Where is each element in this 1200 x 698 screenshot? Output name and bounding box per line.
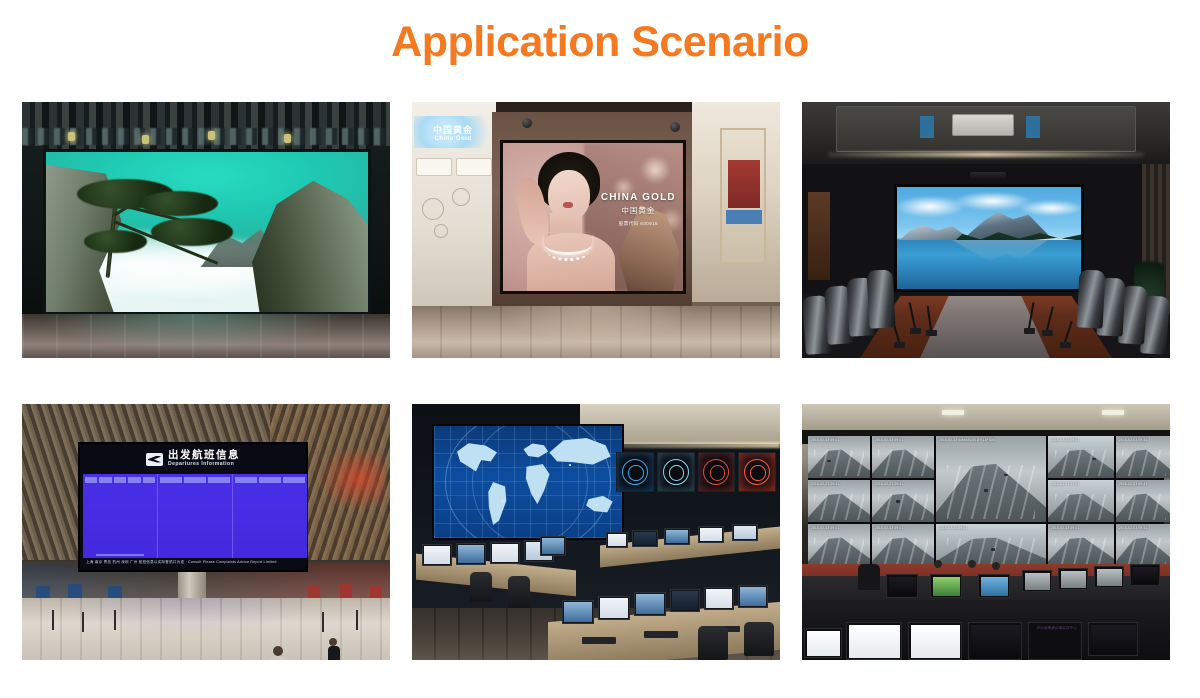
scenario-photo-stage-led-display[interactable]: Indoor fine-pitch LED wall on a stage sh…	[22, 102, 390, 358]
operator-monitor	[456, 543, 486, 565]
header-cell	[114, 477, 126, 483]
map-node-dot	[479, 460, 481, 462]
microphone-base	[926, 330, 937, 336]
queue-stanchion	[322, 612, 324, 632]
operator-chair	[470, 572, 492, 602]
header-cell	[259, 477, 281, 483]
map-node-dot	[569, 464, 571, 466]
board-title-block: 出发航班信息 Departures Information	[168, 450, 240, 467]
cctv-tile: 2016-02-03 09:41	[872, 524, 934, 566]
page-title: Application Scenario	[0, 18, 1200, 67]
flight-row	[85, 485, 155, 490]
header-cell	[208, 477, 230, 483]
header-cell	[85, 477, 97, 483]
store-brand-sign: 中国黄金 China Gold	[414, 116, 492, 148]
ceiling-panel-blue	[1026, 116, 1040, 138]
operator-chair	[698, 626, 728, 660]
ceiling-lamp-icon	[1102, 410, 1124, 415]
desk-monitor	[978, 574, 1010, 598]
retail-store-scene: 中国黄金 China Gold	[412, 102, 780, 358]
video-conference-camera-icon	[970, 172, 1006, 179]
header-cell	[128, 477, 140, 483]
radar-display-red-bright	[738, 452, 776, 492]
screen-landscape-image	[897, 187, 1081, 289]
jewelry-display-cases	[416, 158, 492, 176]
right-cliff	[252, 181, 371, 312]
operator-monitor	[704, 587, 734, 610]
desk-monitor	[1058, 568, 1088, 590]
operator-chair	[508, 576, 530, 608]
desk-monitor	[968, 622, 1022, 660]
microphone-base	[1024, 328, 1035, 334]
desk-monitor: 河北省高速公路监控中心	[1028, 622, 1082, 660]
advert-footnote: 股票代码 600916	[601, 221, 676, 227]
cctv-tile: 2016-02-03 09:41	[872, 436, 934, 478]
stage-floor	[22, 314, 390, 358]
keyboard	[582, 637, 616, 644]
board-ticker-text: 上海 南京 青岛 杭州 深圳 广州 航班信息以实际登机口为准 · Consult…	[83, 560, 277, 565]
header-cell	[160, 477, 182, 483]
board-note-line	[96, 554, 143, 557]
necklace-display-icon	[434, 224, 448, 238]
necklace-display-icon	[422, 198, 444, 220]
desk-monitor	[1022, 570, 1052, 592]
conference-chair	[1077, 269, 1106, 328]
board-title-en: Departures Information	[168, 462, 240, 468]
corridor-poster-blue	[726, 210, 762, 224]
flight-column-1	[83, 474, 158, 560]
led-screen-world-map	[432, 424, 624, 540]
cctv-tile: 2016-02-03 09:41	[936, 524, 1046, 566]
counter-sign-red	[340, 584, 352, 598]
flight-column-2	[158, 474, 233, 560]
airplane-icon	[146, 453, 163, 466]
store-left-wall: 中国黄金 China Gold	[412, 102, 496, 308]
queue-stanchion	[114, 610, 116, 630]
corridor-poster	[728, 160, 760, 208]
flight-column-3	[233, 474, 307, 560]
microphone-base	[910, 328, 921, 334]
queue-stanchion	[52, 610, 54, 630]
operator-monitor	[698, 526, 724, 543]
operator-chair	[744, 622, 774, 656]
scenario-gallery-grid: Indoor fine-pitch LED wall on a stage sh…	[22, 102, 1178, 660]
flight-row	[85, 515, 155, 520]
ceiling-lamp-icon	[942, 410, 964, 415]
scenario-photo-traffic-surveillance-center[interactable]: 2016-02-03 09:41 2016-02-03 09:41 2016-0…	[802, 404, 1170, 660]
lighting-truss	[22, 102, 390, 150]
operator-monitor	[562, 600, 594, 624]
jewelry-case	[416, 158, 452, 176]
operator-monitor	[422, 544, 452, 566]
airport-terminal-scene: 出发航班信息 Departures Information	[22, 404, 390, 660]
cove-lighting	[828, 152, 1144, 157]
radar-display-cyan	[657, 452, 695, 492]
mall-corridor	[692, 102, 780, 302]
cctv-tile: 2016-02-03 09:41	[1116, 480, 1170, 522]
desk-monitor	[886, 574, 918, 598]
operator-monitor	[632, 530, 658, 547]
led-screen-conference	[894, 184, 1084, 292]
conference-chair	[867, 269, 896, 328]
operator-monitor	[598, 596, 630, 620]
operator-head	[968, 560, 976, 568]
desk-monitor	[804, 628, 842, 658]
scenario-photo-command-control-center[interactable]: Network operations center with a world-m…	[412, 404, 780, 660]
stage-led-scene	[22, 102, 390, 358]
cctv-tile: 2016-02-03 09:41	[808, 480, 870, 522]
queue-stanchion	[356, 610, 358, 630]
operator-head	[934, 560, 942, 568]
radar-display-blue	[616, 452, 654, 492]
jewelry-case	[456, 158, 492, 176]
cctv-tile: 2016-02-03 09:41	[872, 480, 934, 522]
desk-monitor	[1130, 564, 1160, 586]
microphone-base	[1060, 342, 1071, 348]
operator-monitor	[606, 532, 628, 548]
queue-stanchion	[82, 612, 84, 632]
security-camera-icon	[670, 122, 680, 132]
scenario-photo-retail-led-display[interactable]: 中国黄金 China Gold	[412, 102, 780, 358]
cctv-tile: 2016-02-03 09:41	[1048, 436, 1114, 478]
led-screen-departures: 出发航班信息 Departures Information	[78, 442, 308, 572]
store-sign-en: China Gold	[435, 136, 472, 142]
keyboard	[644, 631, 678, 638]
cctv-tile: 2016-02-03 09:41	[1048, 524, 1114, 566]
flight-table-header	[160, 477, 230, 483]
microphone-base	[894, 342, 905, 348]
application-scenario-page: Application Scenario	[0, 0, 1200, 698]
pine-foliage	[84, 230, 147, 253]
pine-foliage	[151, 218, 233, 246]
stage-lamp-icon	[208, 131, 215, 140]
led-screen-stage	[43, 149, 371, 315]
person-body	[270, 656, 286, 660]
huangshan-pine-tree	[65, 174, 252, 289]
header-cell	[235, 477, 257, 483]
stage-side-right	[368, 146, 390, 318]
stage-lamp-icon	[284, 134, 291, 143]
desk-monitor	[1094, 566, 1124, 588]
microphone-base	[1042, 330, 1053, 336]
store-floor	[412, 306, 780, 358]
person-body	[328, 646, 340, 660]
flight-row	[85, 507, 155, 512]
flight-row	[85, 500, 155, 505]
header-cell	[143, 477, 155, 483]
flight-table-header	[85, 477, 155, 483]
cctv-tile: 2016-02-03 09:41	[1116, 524, 1170, 566]
operator-head	[992, 562, 1000, 570]
desk-monitor	[908, 622, 962, 660]
header-cell	[99, 477, 111, 483]
operator-monitor	[732, 524, 758, 541]
lake-water	[897, 240, 1081, 289]
ceiling	[802, 404, 1170, 430]
air-conditioner-vent	[952, 114, 1014, 136]
necklace-display-icon	[452, 188, 470, 206]
person-head	[329, 638, 337, 646]
model-lips	[563, 202, 573, 208]
model-necklace	[544, 233, 592, 255]
scenario-photo-airport-departures-board[interactable]: 出发航班信息 Departures Information	[22, 404, 390, 660]
flight-row	[85, 522, 155, 527]
cctv-tile: 2016-02-03 09:41	[808, 524, 870, 566]
desk-banner-text: 河北省高速公路监控中心	[1031, 625, 1083, 630]
advert-text-block: CHINA GOLD 中国黄金 股票代码 600916	[601, 192, 676, 227]
led-screen-retail: CHINA GOLD 中国黄金 股票代码 600916	[500, 140, 686, 294]
radar-display-red	[698, 452, 736, 492]
operator-monitor	[738, 585, 768, 608]
operator-monitor	[664, 528, 690, 545]
operator-monitor	[670, 589, 700, 612]
operator-monitor	[634, 592, 666, 616]
room-door	[808, 192, 830, 280]
store-sign-cn: 中国黄金	[433, 123, 473, 136]
conference-room-scene	[802, 102, 1170, 358]
operator-seat	[858, 564, 880, 590]
cctv-tile: 2016-02-03 09:41	[808, 436, 870, 478]
operator-monitor	[540, 536, 566, 556]
security-camera-icon	[522, 118, 532, 128]
board-ticker: 上海 南京 青岛 杭州 深圳 广州 航班信息以实际登机口为准 · Consult…	[83, 558, 307, 566]
auxiliary-display-row	[616, 452, 776, 492]
advert-subheadline: 中国黄金	[601, 206, 676, 215]
cctv-tile: 2016-02-03 09:41	[1048, 480, 1114, 522]
person-head	[273, 646, 283, 656]
cctv-tile-large: 2016-02-03 \u9ad8\u901f K18+300	[936, 436, 1046, 522]
flight-table	[83, 474, 307, 560]
header-cell	[283, 477, 305, 483]
ceiling-panel-blue	[920, 116, 934, 138]
flight-row	[85, 492, 155, 497]
desk-monitor	[1088, 622, 1138, 656]
advert-headline: CHINA GOLD	[601, 192, 676, 205]
stage-lamp-icon	[142, 135, 149, 144]
stage-side-left	[22, 146, 44, 318]
control-center-scene	[412, 404, 780, 660]
desk-monitor	[846, 622, 902, 660]
desk-monitor	[930, 574, 962, 598]
led-video-wall-cctv: 2016-02-03 09:41 2016-02-03 09:41 2016-0…	[808, 436, 1164, 564]
stage-lamp-icon	[68, 132, 75, 141]
header-cell	[184, 477, 206, 483]
pine-foliage	[140, 191, 218, 216]
cctv-tile: 2016-02-03 09:41	[1116, 436, 1170, 478]
flight-table-header	[235, 477, 305, 483]
scenario-photo-conference-room-display[interactable]: Executive boardroom with LED video wall,…	[802, 102, 1170, 358]
traffic-center-scene: 2016-02-03 09:41 2016-02-03 09:41 2016-0…	[802, 404, 1170, 660]
board-header: 出发航班信息 Departures Information	[80, 444, 306, 474]
operator-monitor	[490, 542, 520, 564]
